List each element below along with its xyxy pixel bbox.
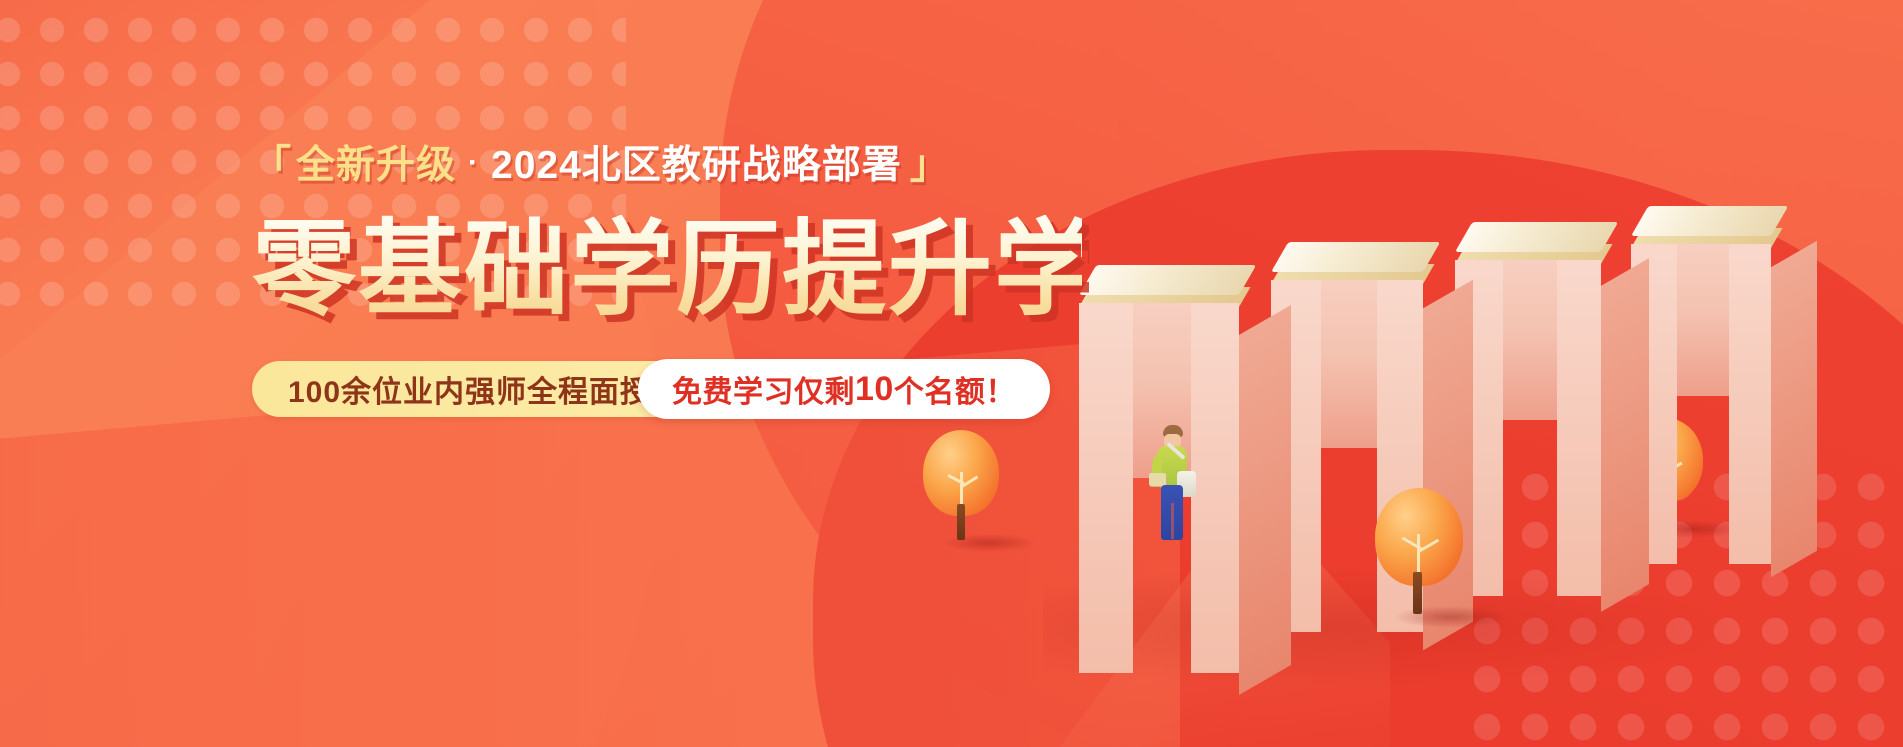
arch-leg-right: [1729, 244, 1771, 564]
banner-text-block: 「 全新升级 · 2024北区教研战略部署 」 零基础学历提升学霸班 100余位…: [252, 146, 1082, 417]
subtitle-highlight: 全新升级: [296, 146, 456, 185]
subtitle-plain: 2024北区教研战略部署: [491, 146, 902, 185]
bracket-open-icon: 「: [252, 146, 292, 185]
arch-leg-right: [1557, 260, 1601, 596]
book-arch-3: [1455, 222, 1601, 602]
student-leg-gap: [1171, 503, 1174, 539]
banner-title: 零基础学历提升学霸班: [252, 215, 1082, 325]
pill-free-slots-suffix: 个名额！: [894, 367, 1016, 411]
arch-leg-left: [1079, 303, 1133, 673]
student-figure-icon: [1151, 425, 1197, 545]
tree-trunk: [957, 504, 965, 540]
arch-leg-right: [1191, 303, 1239, 673]
book-arch-illustration: [1003, 0, 1903, 747]
book-arch-4: [1631, 206, 1771, 566]
tree-center-icon: [1375, 488, 1465, 624]
tree-shadow: [1395, 606, 1507, 628]
arch-side-face: [1239, 305, 1291, 695]
pill-free-slots[interactable]: 免费学习仅剩 10 个名额！: [638, 359, 1050, 419]
arch-side-face: [1771, 241, 1817, 578]
book-page-top: [1631, 206, 1788, 236]
banner-pill-row: 100余位业内强师全程面授 免费学习仅剩 10 个名额！: [252, 361, 974, 417]
bracket-close-icon: 」: [910, 146, 950, 185]
pill-instructors-label: 100余位业内强师全程面授: [288, 367, 651, 411]
book-page-top: [1455, 222, 1618, 252]
banner-subtitle: 「 全新升级 · 2024北区教研战略部署 」: [252, 146, 1082, 185]
pill-free-slots-count: 10: [855, 370, 894, 409]
arch-side-face: [1601, 258, 1649, 612]
pill-free-slots-prefix: 免费学习仅剩: [672, 367, 855, 411]
promo-banner: 「 全新升级 · 2024北区教研战略部署 」 零基础学历提升学霸班 100余位…: [0, 0, 1903, 747]
tree-branch: [960, 472, 963, 508]
tree-trunk: [1413, 572, 1422, 614]
tree-left-icon: [923, 430, 1003, 550]
subtitle-separator-dot: ·: [468, 148, 479, 178]
